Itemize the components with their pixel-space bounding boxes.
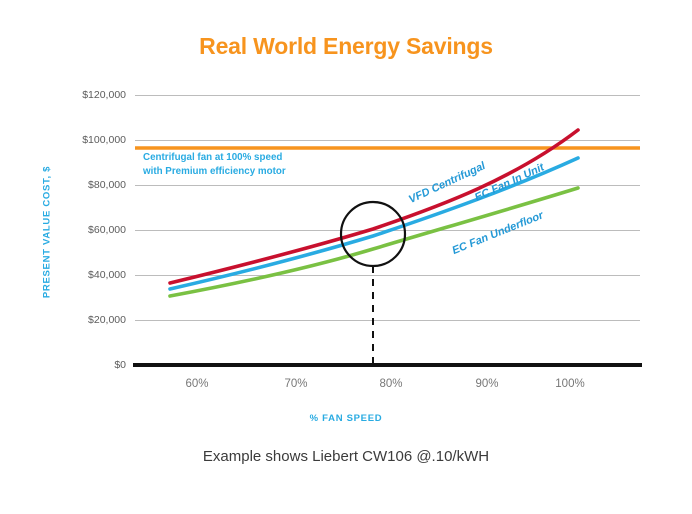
chart-caption: Example shows Liebert CW106 @.10/kWH xyxy=(0,448,692,465)
y-tick-120000: $120,000 xyxy=(52,89,126,101)
energy-savings-chart: Real World Energy Savings $120,000 $100,… xyxy=(0,0,692,514)
y-tick-0: $0 xyxy=(52,359,126,371)
reference-line-annotation: Centrifugal fan at 100% speed with Premi… xyxy=(143,151,286,178)
x-tick-80: 80% xyxy=(379,378,402,390)
x-tick-90: 90% xyxy=(475,378,498,390)
y-tick-20000: $20,000 xyxy=(52,314,126,326)
y-axis-ticks: $120,000 $100,000 $80,000 $60,000 $40,00… xyxy=(52,0,126,514)
y-axis-title: PRESENT VALUE COST, $ xyxy=(42,166,53,298)
y-tick-60000: $60,000 xyxy=(52,224,126,236)
x-tick-100: 100% xyxy=(555,378,584,390)
reference-line-annotation-line2: with Premium efficiency motor xyxy=(143,165,286,179)
y-tick-80000: $80,000 xyxy=(52,179,126,191)
x-tick-70: 70% xyxy=(284,378,307,390)
y-tick-40000: $40,000 xyxy=(52,269,126,281)
y-tick-100000: $100,000 xyxy=(52,134,126,146)
reference-line-annotation-line1: Centrifugal fan at 100% speed xyxy=(143,151,286,165)
x-axis-title: % FAN SPEED xyxy=(0,413,692,424)
x-tick-60: 60% xyxy=(185,378,208,390)
